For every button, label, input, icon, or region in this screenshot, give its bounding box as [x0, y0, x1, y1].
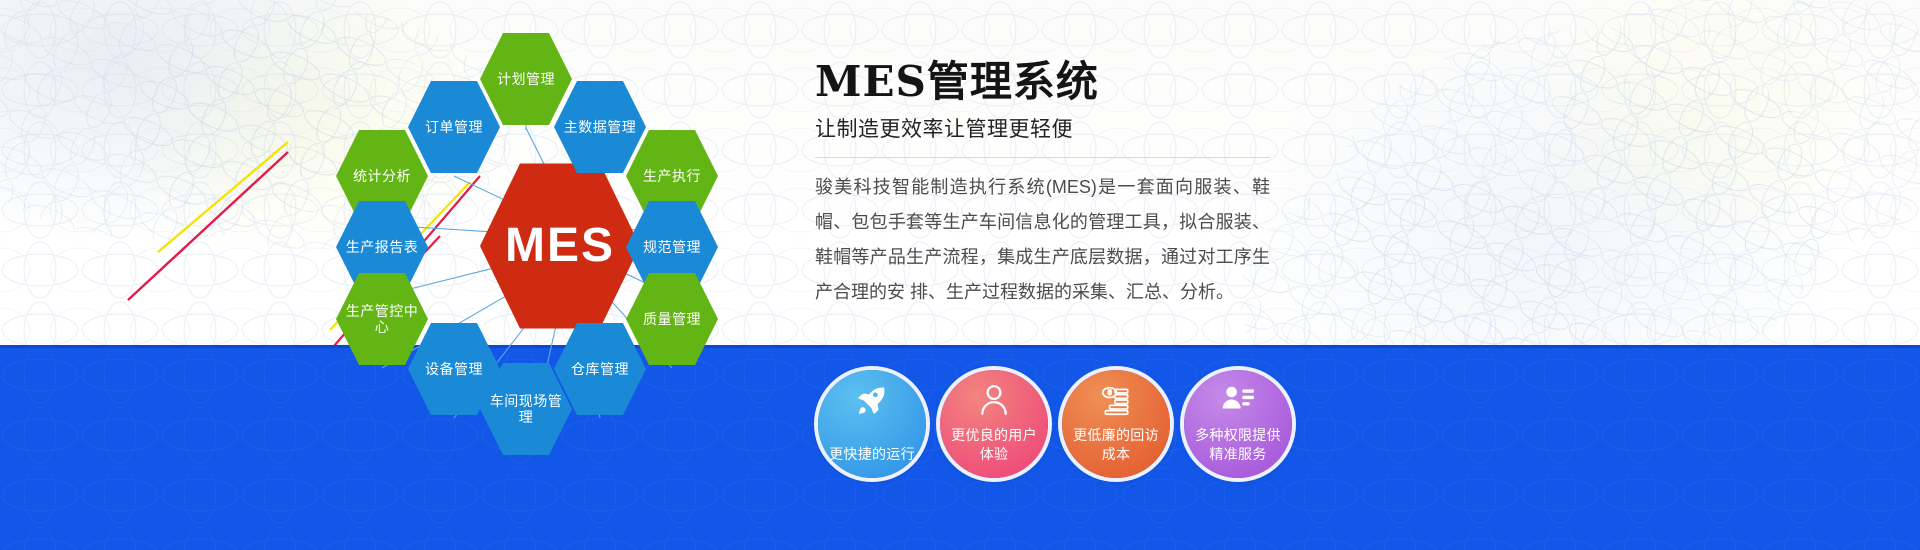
badge-lower-revisit-cost[interactable]: 更低廉的回访成本: [1062, 370, 1170, 478]
page-subtitle: 让制造更效率让管理更轻便: [815, 113, 1335, 143]
badge-multi-permission-service[interactable]: 多种权限提供精准服务: [1184, 370, 1292, 478]
rocket-icon: [855, 383, 889, 417]
hex-label: 订单管理: [425, 119, 483, 135]
feature-badge-list: 更快捷的运行 更优良的用户体验: [818, 370, 1292, 478]
hex-label: 主数据管理: [564, 119, 637, 135]
badge-faster-operation[interactable]: 更快捷的运行: [818, 370, 926, 478]
badge-better-user-experience[interactable]: 更优良的用户体验: [940, 370, 1048, 478]
divider: [815, 157, 1270, 158]
user-list-icon: [1221, 383, 1255, 417]
hex-label: 仓库管理: [571, 361, 629, 377]
hex-label: 生产报告表: [346, 239, 419, 255]
badge-label: 更低廉的回访成本: [1068, 426, 1164, 464]
hex-label: 设备管理: [425, 361, 483, 377]
hex-label: 生产执行: [643, 168, 701, 184]
hex-label: 质量管理: [643, 311, 701, 327]
badge-label: 多种权限提供精准服务: [1190, 426, 1286, 464]
description-paragraph: 骏美科技智能制造执行系统(MES)是一套面向服装、鞋帽、包包手套等生产车间信息化…: [815, 170, 1270, 310]
mes-banner: MES 计划管理 订单管理 主数据管理 统计分析 生产执行 生产报告表 规范管理…: [0, 0, 1920, 550]
hex-label: 生产管控中心: [342, 303, 422, 335]
hex-label: 车间现场管理: [486, 393, 566, 425]
badge-label: 更快捷的运行: [824, 445, 920, 464]
hex-label: 计划管理: [497, 71, 555, 87]
money-stack-icon: [1099, 383, 1133, 417]
hex-label: 统计分析: [353, 168, 411, 184]
user-icon: [977, 383, 1011, 417]
page-title: MES管理系统: [815, 58, 1335, 105]
copy-block: MES管理系统 让制造更效率让管理更轻便 骏美科技智能制造执行系统(MES)是一…: [815, 58, 1335, 310]
hex-label: 规范管理: [643, 239, 701, 255]
mes-hexagon-diagram: MES 计划管理 订单管理 主数据管理 统计分析 生产执行 生产报告表 规范管理…: [330, 20, 790, 440]
badge-label: 更优良的用户体验: [946, 426, 1042, 464]
